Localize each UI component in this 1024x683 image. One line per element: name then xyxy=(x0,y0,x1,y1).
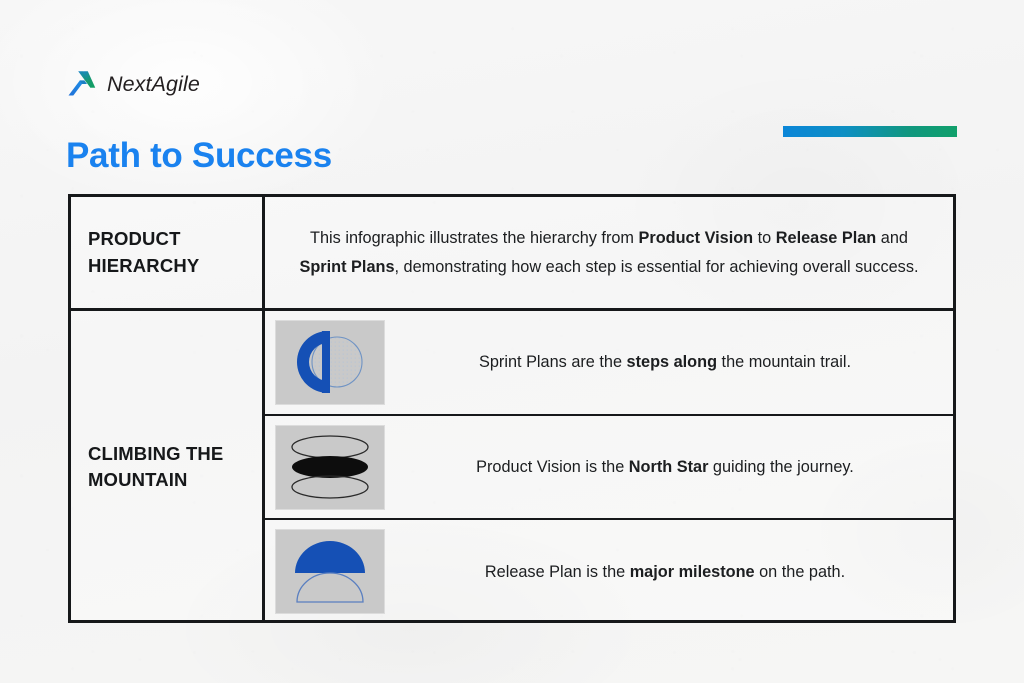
group-label-climbing: CLIMBING THEMOUNTAIN xyxy=(88,441,223,494)
crescent-circle-icon xyxy=(282,325,378,399)
row-label-cell-product-hierarchy: PRODUCTHIERARCHY xyxy=(71,197,265,308)
row-description-cell-product-hierarchy: This infographic illustrates the hierarc… xyxy=(265,197,953,308)
group-label-cell-climbing: CLIMBING THEMOUNTAIN xyxy=(71,311,265,623)
row-description-cell: Release Plan is the major milestone on t… xyxy=(395,559,953,585)
accent-bar xyxy=(783,126,957,137)
infographic-table: PRODUCTHIERARCHY This infographic illust… xyxy=(68,194,956,623)
icon-tile xyxy=(275,529,385,614)
row-description-product-hierarchy: This infographic illustrates the hierarc… xyxy=(286,224,932,280)
page-title: Path to Success xyxy=(66,136,332,176)
group-rows-climbing: Sprint Plans are the steps along the mou… xyxy=(265,311,953,623)
icon-cell xyxy=(265,529,395,614)
icon-cell xyxy=(265,320,395,405)
stacked-ellipses-icon xyxy=(282,430,378,504)
row-description: Product Vision is the North Star guiding… xyxy=(476,454,854,480)
table-row: Sprint Plans are the steps along the mou… xyxy=(265,311,953,414)
infographic-page: NextAgile Path to Success PRODUCTHIERARC… xyxy=(0,0,1024,683)
table-group-climbing-the-mountain: CLIMBING THEMOUNTAIN xyxy=(71,311,953,623)
table-row: Product Vision is the North Star guiding… xyxy=(265,414,953,519)
row-description-cell: Product Vision is the North Star guiding… xyxy=(395,454,953,480)
row-description: Release Plan is the major milestone on t… xyxy=(485,559,845,585)
row-label-product-hierarchy: PRODUCTHIERARCHY xyxy=(88,226,199,279)
table-row: Release Plan is the major milestone on t… xyxy=(265,518,953,623)
row-description-cell: Sprint Plans are the steps along the mou… xyxy=(395,349,953,375)
icon-tile xyxy=(275,320,385,405)
brand-name: NextAgile xyxy=(107,72,200,97)
icon-tile xyxy=(275,425,385,510)
brand-logo: NextAgile xyxy=(66,68,200,100)
dome-semicircle-icon xyxy=(282,535,378,609)
table-row-product-hierarchy: PRODUCTHIERARCHY This infographic illust… xyxy=(71,197,953,311)
row-description: Sprint Plans are the steps along the mou… xyxy=(479,349,851,375)
nextagile-arrow-logo-icon xyxy=(66,68,98,100)
icon-cell xyxy=(265,425,395,510)
